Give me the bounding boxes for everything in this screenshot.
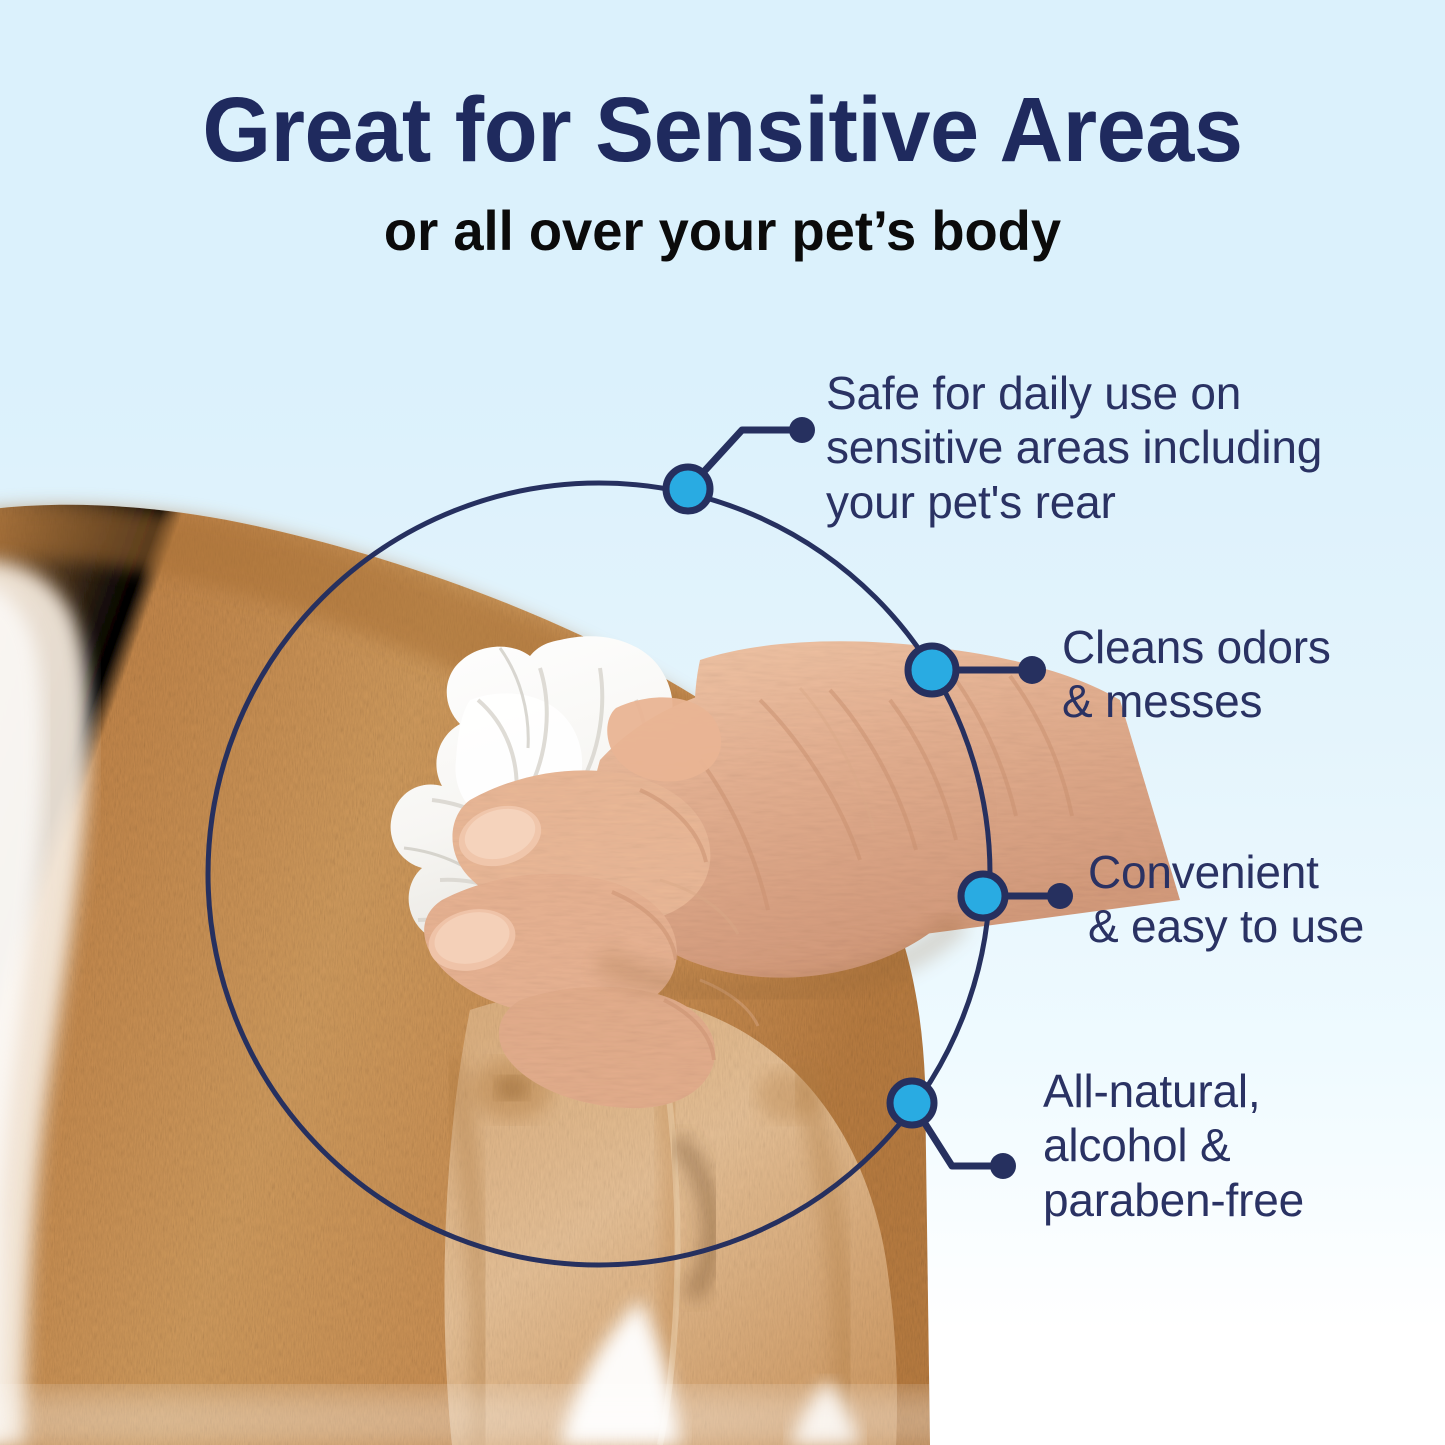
node-convenient-icon[interactable] [961,874,1005,918]
callout-convenient: Convenient & easy to use [1088,845,1408,954]
dot-convenient-icon [1047,883,1073,909]
callout-cleans-odors: Cleans odors & messes [1062,620,1402,729]
callout-sensitive-areas: Safe for daily use on sensitive areas in… [826,366,1386,529]
node-cleans-odors-icon[interactable] [908,646,956,694]
infographic-canvas: Great for Sensitive Areas or all over yo… [0,0,1445,1445]
node-all-natural-icon[interactable] [890,1081,934,1125]
node-sensitive-areas-icon[interactable] [666,467,710,511]
dot-sensitive-areas-icon [789,417,815,443]
dot-all-natural-icon [990,1153,1016,1179]
highlight-circle [208,483,990,1265]
callout-all-natural: All-natural, alcohol & paraben-free [1043,1064,1393,1227]
dot-cleans-odors-icon [1018,656,1046,684]
